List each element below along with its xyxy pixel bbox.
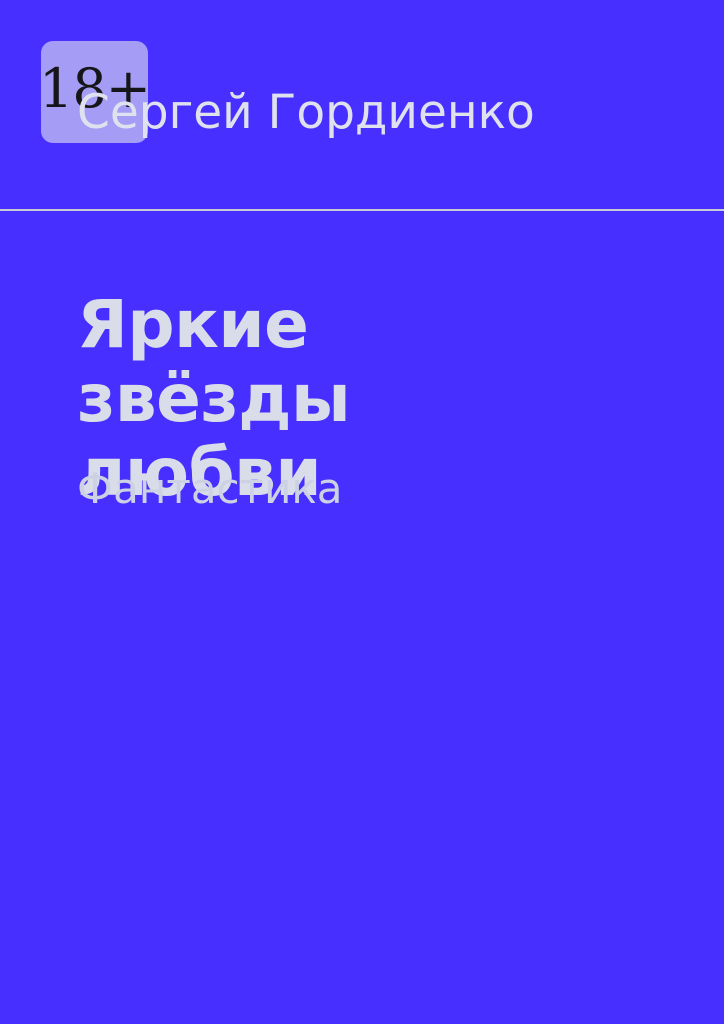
author-name: Сергей Гордиенко bbox=[77, 88, 535, 137]
book-cover: 18+ Сергей Гордиенко Яркие звёзды любви … bbox=[0, 0, 724, 1024]
header-divider bbox=[0, 209, 724, 211]
book-subtitle: Фантастика bbox=[77, 466, 343, 512]
cover-header: 18+ Сергей Гордиенко bbox=[0, 0, 724, 211]
